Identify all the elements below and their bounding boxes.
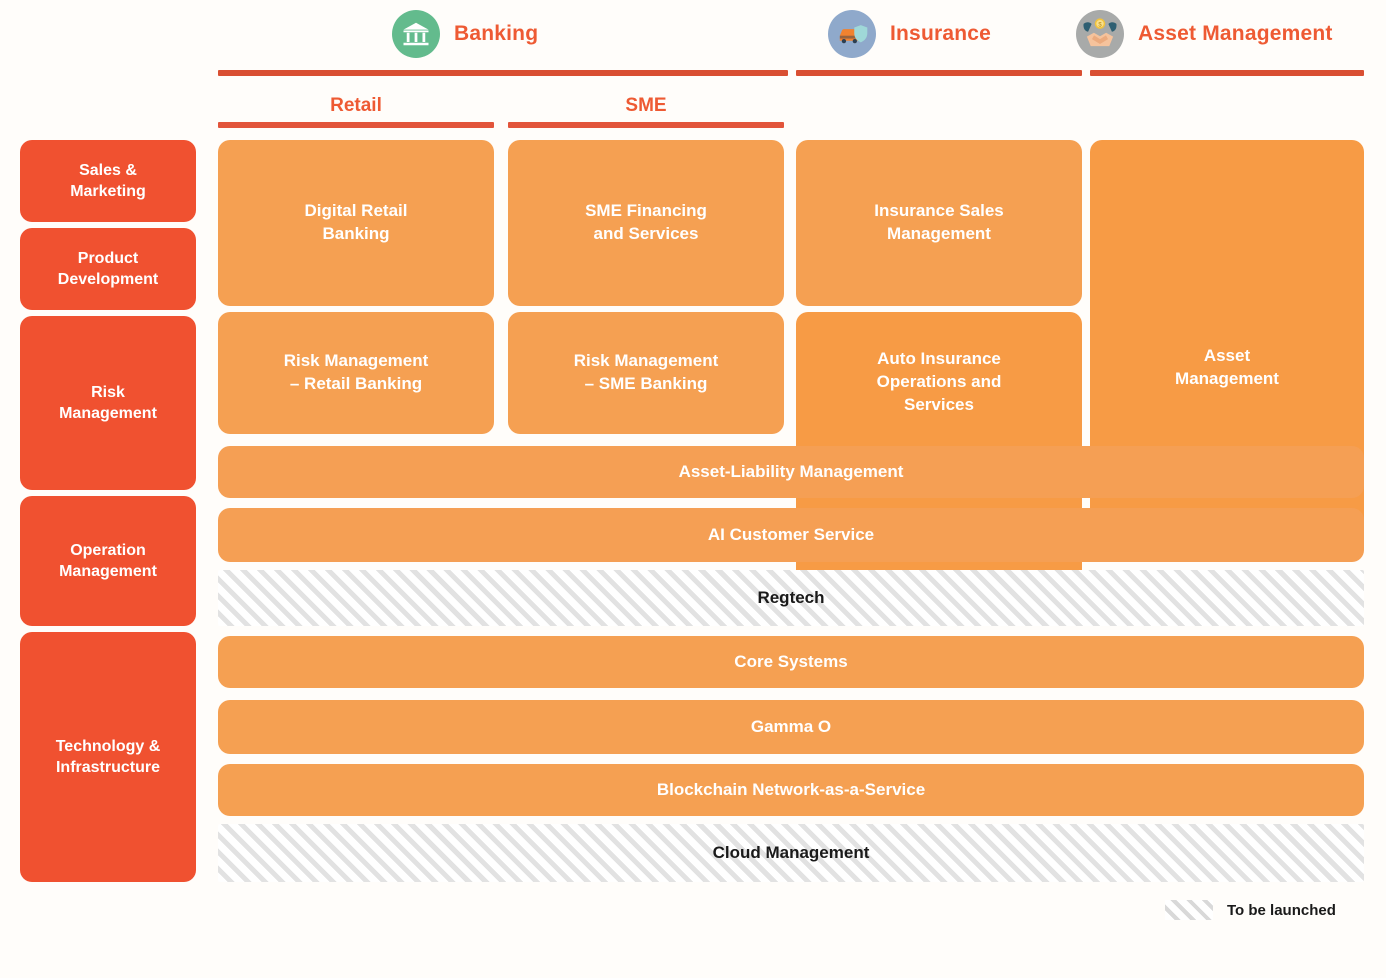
row-label-product-development-line1: Product bbox=[78, 250, 138, 267]
card-insurance-sales-line2: Management bbox=[887, 224, 991, 243]
sub-segment-label-retail: Retail bbox=[218, 95, 494, 117]
card-auto-insurance-line1: Auto Insurance bbox=[877, 349, 1001, 368]
segment-header-banking: Banking bbox=[392, 10, 538, 58]
sub-segment-rule-retail bbox=[218, 122, 494, 128]
car-shield-icon bbox=[828, 10, 876, 58]
card-digital-retail-banking-line1: Digital Retail bbox=[305, 201, 408, 220]
card-risk-sme-line1: Risk Management bbox=[574, 351, 719, 370]
bank-building-icon bbox=[392, 10, 440, 58]
segment-header-insurance: Insurance bbox=[828, 10, 991, 58]
card-auto-insurance-line3: Services bbox=[904, 395, 974, 414]
card-sme-financing-line2: and Services bbox=[594, 224, 699, 243]
band-cloud-management[interactable]: Cloud Management bbox=[218, 824, 1364, 882]
card-risk-management-retail[interactable]: Risk Management – Retail Banking bbox=[218, 312, 494, 434]
row-label-product-development-line2: Development bbox=[58, 271, 158, 288]
band-core-systems-label: Core Systems bbox=[734, 651, 847, 674]
segment-rule-banking bbox=[218, 70, 788, 76]
card-risk-retail-line1: Risk Management bbox=[284, 351, 429, 370]
band-ai-customer-service-label: AI Customer Service bbox=[708, 524, 874, 547]
card-sme-financing-line1: SME Financing bbox=[585, 201, 707, 220]
row-label-operation-management: Operation Management bbox=[20, 496, 196, 626]
segment-label-banking: Banking bbox=[454, 22, 538, 46]
band-gamma-o-label: Gamma O bbox=[751, 716, 831, 739]
card-digital-retail-banking-line2: Banking bbox=[322, 224, 389, 243]
band-ai-customer-service[interactable]: AI Customer Service bbox=[218, 508, 1364, 562]
band-gamma-o[interactable]: Gamma O bbox=[218, 700, 1364, 754]
legend-to-be-launched-label: To be launched bbox=[1227, 902, 1336, 919]
row-label-technology-infrastructure-line1: Technology & bbox=[56, 738, 161, 755]
card-risk-retail-line2: – Retail Banking bbox=[290, 374, 422, 393]
handshake-coin-icon: $ bbox=[1076, 10, 1124, 58]
segment-rule-insurance bbox=[796, 70, 1082, 76]
card-auto-insurance-line2: Operations and bbox=[877, 372, 1002, 391]
segment-label-asset-management: Asset Management bbox=[1138, 22, 1333, 46]
legend-hatch-swatch-icon bbox=[1165, 900, 1213, 920]
card-digital-retail-banking[interactable]: Digital Retail Banking bbox=[218, 140, 494, 306]
row-label-sales-marketing-line1: Sales & bbox=[79, 162, 137, 179]
card-sme-financing-services[interactable]: SME Financing and Services bbox=[508, 140, 784, 306]
row-label-sales-marketing-line2: Marketing bbox=[70, 183, 146, 200]
legend: To be launched bbox=[1165, 900, 1336, 920]
row-label-technology-infrastructure: Technology & Infrastructure bbox=[20, 632, 196, 882]
band-regtech[interactable]: Regtech bbox=[218, 570, 1364, 626]
band-blockchain-naas-label: Blockchain Network-as-a-Service bbox=[657, 779, 925, 802]
row-label-risk-management-line1: Risk bbox=[91, 384, 125, 401]
row-label-risk-management-line2: Management bbox=[59, 405, 157, 422]
band-asset-liability-management-label: Asset-Liability Management bbox=[679, 461, 904, 484]
band-asset-liability-management[interactable]: Asset-Liability Management bbox=[218, 446, 1364, 498]
segment-header-asset-management: $ Asset Management bbox=[1076, 10, 1333, 58]
card-insurance-sales-management[interactable]: Insurance Sales Management bbox=[796, 140, 1082, 306]
row-label-sales-marketing: Sales & Marketing bbox=[20, 140, 196, 222]
row-label-product-development: Product Development bbox=[20, 228, 196, 310]
band-blockchain-network-as-a-service[interactable]: Blockchain Network-as-a-Service bbox=[218, 764, 1364, 816]
card-risk-sme-line2: – SME Banking bbox=[585, 374, 708, 393]
architecture-diagram: Banking Insurance $ Ass bbox=[0, 0, 1386, 978]
card-asset-management-line2: Management bbox=[1175, 369, 1279, 388]
card-insurance-sales-line1: Insurance Sales bbox=[874, 201, 1003, 220]
row-label-risk-management: Risk Management bbox=[20, 316, 196, 490]
band-core-systems[interactable]: Core Systems bbox=[218, 636, 1364, 688]
card-risk-management-sme[interactable]: Risk Management – SME Banking bbox=[508, 312, 784, 434]
sub-segment-rule-sme bbox=[508, 122, 784, 128]
band-cloud-management-label: Cloud Management bbox=[703, 843, 880, 863]
segment-label-insurance: Insurance bbox=[890, 22, 991, 46]
segment-rule-asset-management bbox=[1090, 70, 1364, 76]
row-label-technology-infrastructure-line2: Infrastructure bbox=[56, 759, 160, 776]
sub-segment-label-sme: SME bbox=[508, 95, 784, 117]
card-asset-management-line1: Asset bbox=[1204, 346, 1250, 365]
row-label-operation-management-line1: Operation bbox=[70, 542, 146, 559]
band-regtech-label: Regtech bbox=[747, 588, 834, 608]
row-label-operation-management-line2: Management bbox=[59, 563, 157, 580]
